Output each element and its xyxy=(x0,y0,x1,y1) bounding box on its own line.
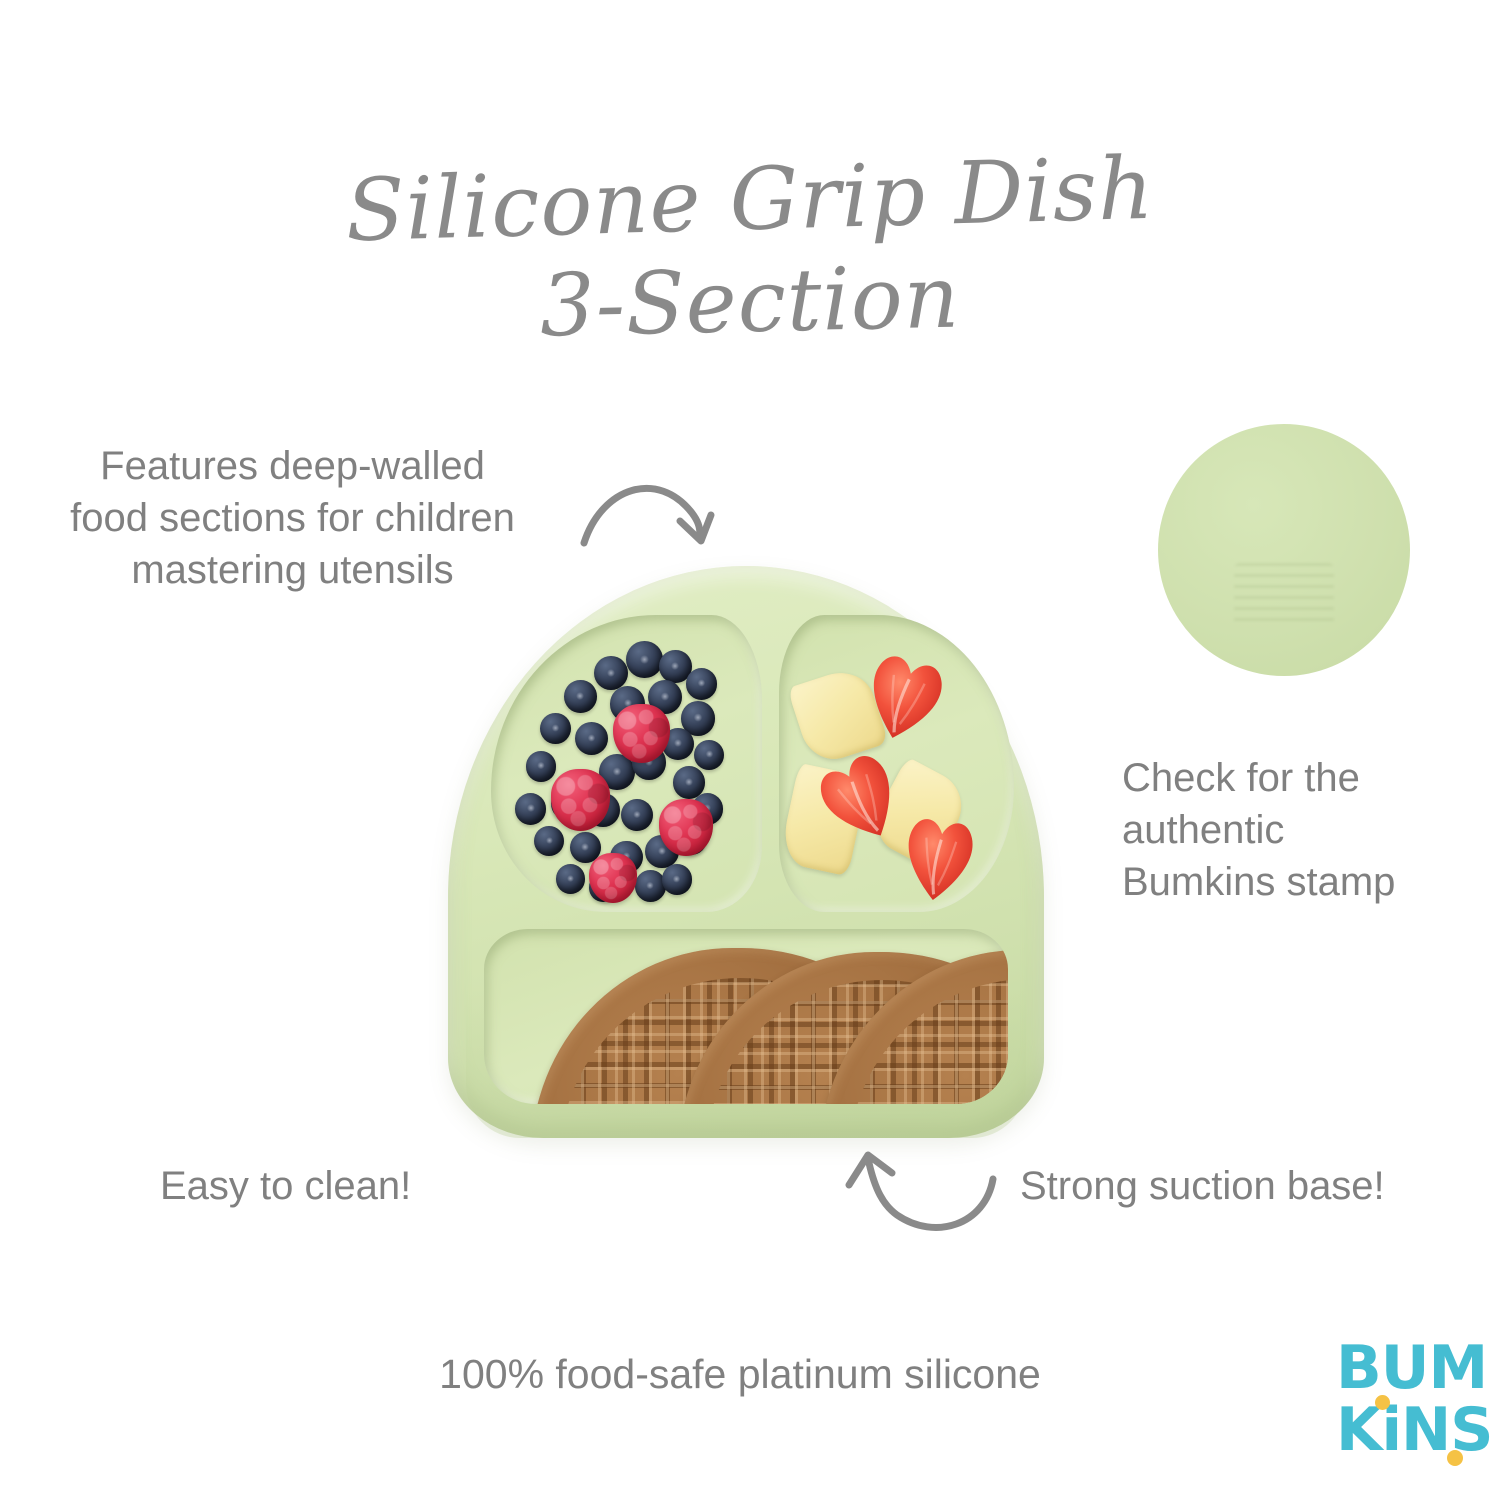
product-infographic: Silicone Grip Dish 3-Section Features de… xyxy=(0,0,1500,1500)
curved-arrow-up-left-icon xyxy=(835,1145,1010,1255)
logo-dot-over-i xyxy=(1375,1395,1390,1410)
logo-text-bum: BUM xyxy=(1336,1338,1487,1398)
blueberry xyxy=(534,826,564,856)
plate-section-berries xyxy=(491,615,762,912)
logo-dot-under-s xyxy=(1447,1450,1463,1466)
blueberry xyxy=(635,870,666,901)
feature-strong-suction-base: Strong suction base! xyxy=(1020,1160,1480,1212)
tagline-food-safe-silicone: 100% food-safe platinum silicone xyxy=(0,1348,1480,1401)
blueberry xyxy=(515,793,546,824)
blueberry xyxy=(564,680,597,713)
blueberry xyxy=(694,740,724,770)
strawberry-heart-slice xyxy=(895,806,983,911)
embossed-stamp-impression xyxy=(1234,563,1335,629)
blueberry xyxy=(686,668,717,699)
blueberry xyxy=(556,864,585,894)
silicone-grip-dish xyxy=(448,566,1044,1138)
blueberry xyxy=(662,864,692,894)
blueberry xyxy=(594,656,628,690)
plate-section-fruit xyxy=(779,615,1014,912)
curved-arrow-down-right-icon xyxy=(580,465,740,575)
raspberry xyxy=(659,799,713,856)
blueberry xyxy=(526,751,556,781)
blueberry xyxy=(540,713,571,744)
blueberry xyxy=(626,641,663,678)
raspberry xyxy=(589,853,638,904)
blueberry xyxy=(575,722,608,755)
feature-authentic-stamp: Check for the authentic Bumkins stamp xyxy=(1122,752,1492,908)
bumkins-logo: BUM KiNS xyxy=(1336,1338,1488,1480)
logo-text-kins: KiNS xyxy=(1336,1400,1493,1460)
feature-easy-to-clean: Easy to clean! xyxy=(160,1160,580,1212)
blueberry xyxy=(621,799,653,831)
bumkins-stamp-circle xyxy=(1158,424,1410,676)
plate-section-waffles xyxy=(484,929,1008,1103)
